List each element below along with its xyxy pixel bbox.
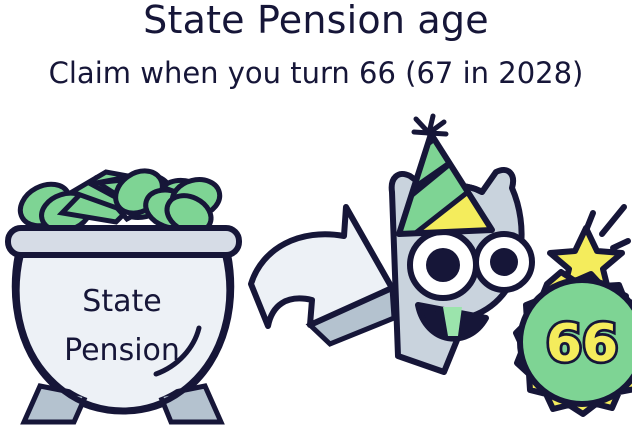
state-pension-pot: State Pension — [8, 162, 239, 422]
pot-label-line-1: State — [82, 284, 161, 319]
cat-eye-left — [410, 232, 476, 298]
party-cat-icon — [386, 116, 532, 372]
cat-eye-right — [476, 234, 532, 290]
pot-label-line-2: Pension — [64, 333, 180, 368]
badge-value: 66 — [546, 314, 618, 374]
illustration-canvas: State Pension — [0, 0, 632, 426]
curved-right-arrow-icon — [251, 207, 394, 344]
illustration-root: State Pension age Claim when you turn 66… — [0, 0, 632, 426]
pot-rim — [8, 228, 239, 255]
age-badge-icon: 66 — [516, 272, 632, 414]
hat-pompom-icon — [414, 116, 446, 136]
